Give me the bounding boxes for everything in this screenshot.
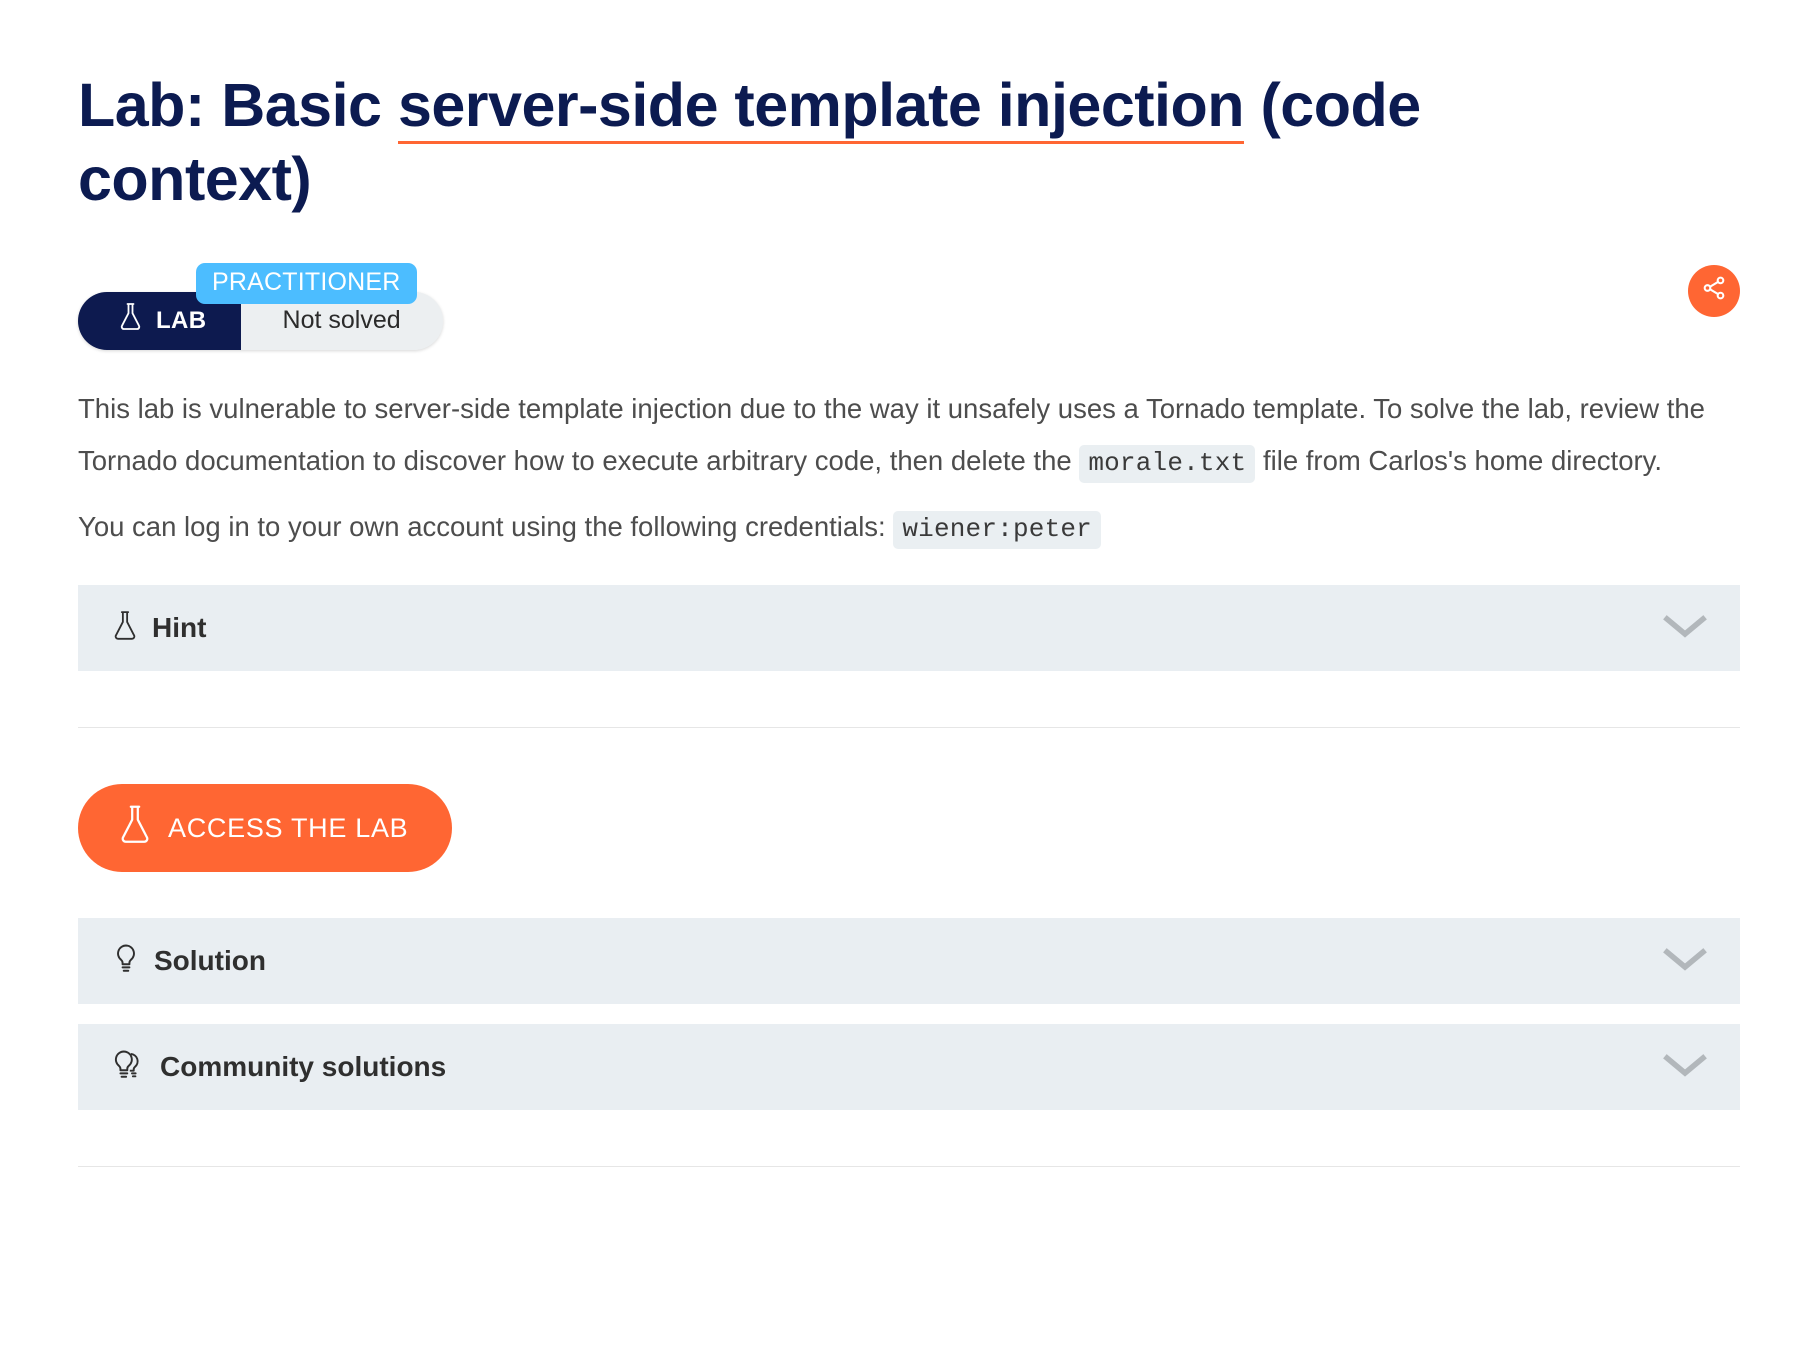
divider-bottom xyxy=(78,1166,1740,1167)
flask-icon xyxy=(118,302,143,339)
accordion-solution[interactable]: Solution xyxy=(78,918,1740,1004)
chevron-down-icon[interactable] xyxy=(1662,611,1708,646)
flask-icon xyxy=(118,804,152,853)
chevron-down-icon[interactable] xyxy=(1662,1050,1708,1085)
accordion-hint[interactable]: Hint xyxy=(78,585,1740,671)
flask-icon xyxy=(112,610,138,647)
accordion-hint-label: Hint xyxy=(152,612,206,644)
accordion-hint-left: Hint xyxy=(112,610,206,647)
lightbulb-icon xyxy=(112,943,140,980)
lab-description-text-2: file from Carlos's home directory. xyxy=(1255,445,1662,476)
accordion-community-solutions[interactable]: Community solutions xyxy=(78,1024,1740,1110)
accordion-community-left: Community solutions xyxy=(112,1049,446,1086)
lab-type-label: LAB xyxy=(156,307,207,335)
double-lightbulb-icon xyxy=(112,1049,146,1086)
chevron-down-icon[interactable] xyxy=(1662,944,1708,979)
accordion-community-label: Community solutions xyxy=(160,1051,446,1083)
page-title: Lab: Basic server-side template injectio… xyxy=(78,0,1538,217)
morale-file-code: morale.txt xyxy=(1079,445,1255,483)
access-the-lab-label: ACCESS THE LAB xyxy=(168,813,408,844)
lab-page: Lab: Basic server-side template injectio… xyxy=(0,0,1814,1362)
spacer-above-cta xyxy=(78,728,1740,784)
spacer-above-hint xyxy=(78,554,1740,585)
access-the-lab-button[interactable]: ACCESS THE LAB xyxy=(78,784,452,872)
credentials-text: You can log in to your own account using… xyxy=(78,511,893,542)
spacer-below-hint xyxy=(78,671,1740,727)
spacer-above-bottom-divider xyxy=(78,1110,1740,1166)
credentials-code: wiener:peter xyxy=(893,511,1101,549)
spacer-below-cta xyxy=(78,872,1740,918)
share-icon xyxy=(1701,275,1727,306)
lab-solved-label: Not solved xyxy=(283,306,401,335)
page-title-prefix: Lab: Basic xyxy=(78,71,398,139)
accordion-solution-label: Solution xyxy=(154,945,266,977)
page-title-highlight: server-side template injection xyxy=(398,71,1244,144)
accordion-solution-left: Solution xyxy=(112,943,266,980)
credentials-paragraph: You can log in to your own account using… xyxy=(78,501,1738,554)
status-row: LAB Not solved PRACTITIONER xyxy=(78,263,1740,349)
difficulty-badge: PRACTITIONER xyxy=(196,263,417,304)
content-column: Lab: Basic server-side template injectio… xyxy=(78,0,1740,1167)
share-button[interactable] xyxy=(1688,265,1740,317)
spacer-between-accordions xyxy=(78,1004,1740,1024)
lab-description-paragraph: This lab is vulnerable to server-side te… xyxy=(78,383,1738,488)
